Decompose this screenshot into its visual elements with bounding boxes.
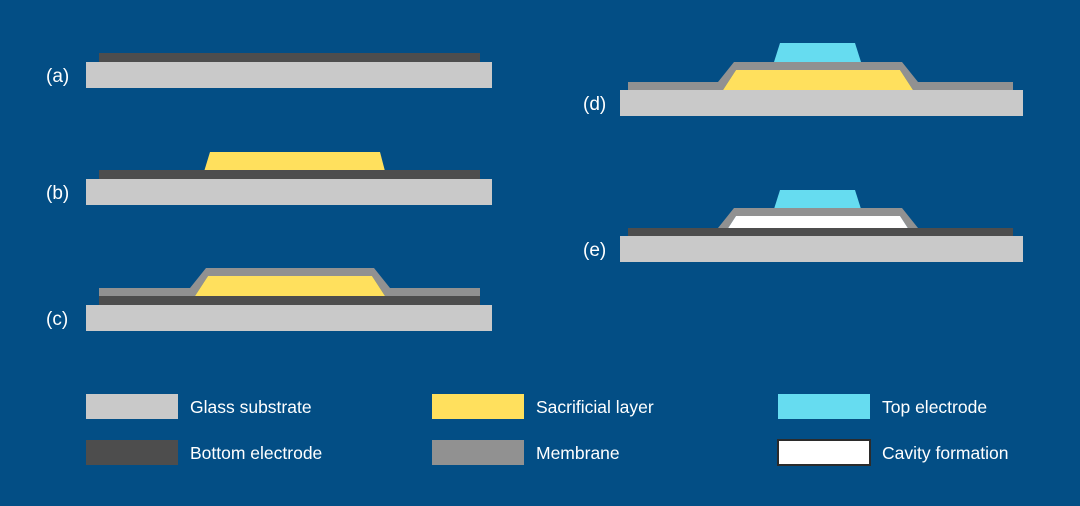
- legend-item-bottom-electrode: Bottom electrode: [86, 440, 322, 465]
- legend-label-cavity-formation: Cavity formation: [882, 443, 1008, 463]
- legend-label-top-electrode: Top electrode: [882, 397, 987, 417]
- legend-item-cavity-formation: Cavity formation: [778, 440, 1008, 465]
- panel-e-bottom-electrode: [628, 228, 1013, 237]
- legend-label-sacrificial-layer: Sacrificial layer: [536, 397, 654, 417]
- panel-d-glass-substrate: [620, 90, 1023, 116]
- legend-swatch-bottom-electrode: [86, 440, 178, 465]
- legend-swatch-membrane: [432, 440, 524, 465]
- panel-c-bottom-electrode: [99, 296, 480, 305]
- panel-e-top-electrode: [774, 190, 861, 209]
- legend-swatch-glass-substrate: [86, 394, 178, 419]
- panel-a: (a): [46, 53, 492, 88]
- panel-c-glass-substrate: [86, 305, 492, 331]
- fabrication-process-diagram: (a) (b) (c) (d) (e): [0, 0, 1080, 506]
- legend-label-membrane: Membrane: [536, 443, 620, 463]
- legend-item-top-electrode: Top electrode: [778, 394, 987, 419]
- panel-e-glass-substrate: [620, 236, 1023, 262]
- panel-e-label: (e): [583, 240, 606, 261]
- panel-c-label: (c): [46, 309, 68, 330]
- panel-a-label: (a): [46, 66, 69, 87]
- panel-b-label: (b): [46, 183, 69, 204]
- panel-d-label: (d): [583, 94, 606, 115]
- legend-label-glass-substrate: Glass substrate: [190, 397, 312, 417]
- panel-b-bottom-electrode: [99, 170, 480, 179]
- panel-c-sacrificial-layer: [195, 276, 385, 296]
- legend-label-bottom-electrode: Bottom electrode: [190, 443, 322, 463]
- legend-swatch-sacrificial-layer: [432, 394, 524, 419]
- panel-d-sacrificial-layer: [723, 70, 913, 90]
- legend-item-sacrificial-layer: Sacrificial layer: [432, 394, 654, 419]
- legend-item-glass-substrate: Glass substrate: [86, 394, 312, 419]
- panel-a-bottom-electrode: [99, 53, 480, 62]
- panel-b-glass-substrate: [86, 179, 492, 205]
- panel-d-top-electrode: [774, 43, 861, 62]
- legend-swatch-top-electrode: [778, 394, 870, 419]
- panel-a-glass-substrate: [86, 62, 492, 88]
- legend-swatch-cavity-formation: [778, 440, 870, 465]
